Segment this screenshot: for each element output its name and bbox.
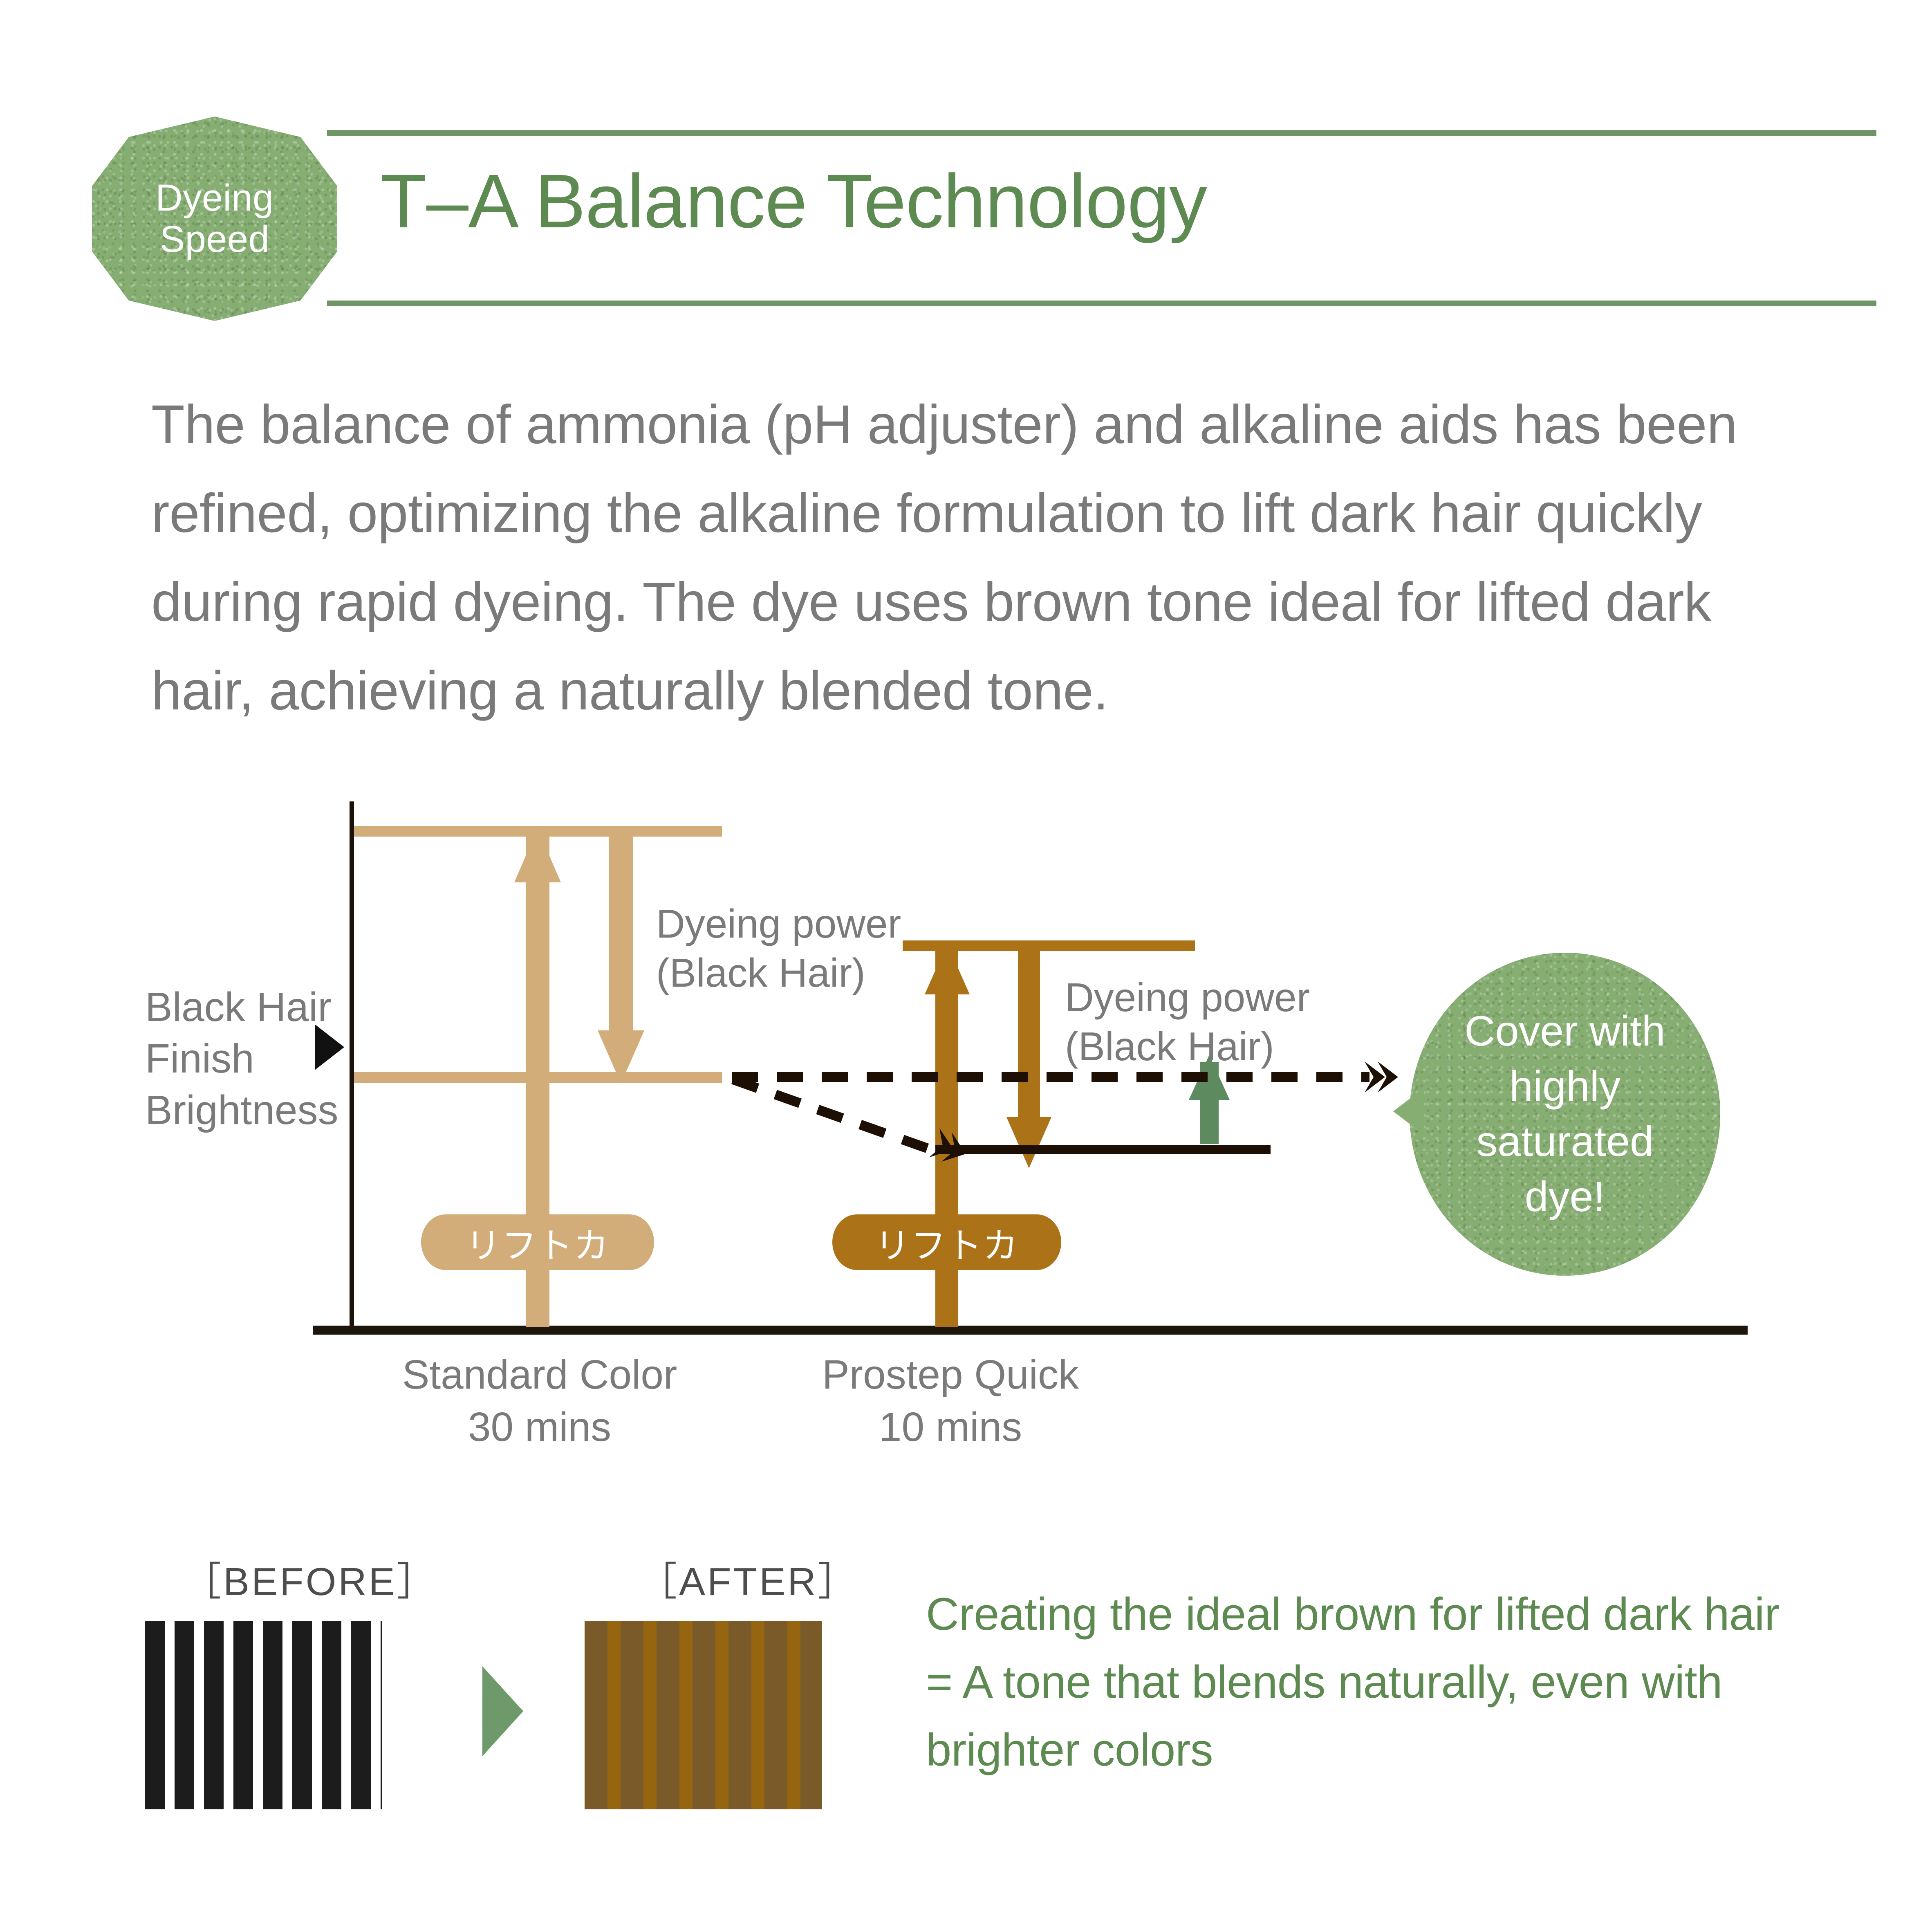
before-caption: ［BEFORE］ [182,1550,438,1607]
page-title: T–A Balance Technology [380,164,1207,240]
standard-lift-up-arrow-icon [514,828,561,922]
quick-dyeing-power-arrow-shaft [1018,946,1040,1126]
header-rule-top [327,130,1876,136]
standard-dyeing-power-arrow-shaft [609,830,633,1039]
before-after-arrow-icon [482,1666,523,1756]
before-after-note: Creating the ideal brown for lifted dark… [926,1580,1784,1784]
x-tick-standard-time: 30 mins [376,1401,703,1453]
y-axis-label-line3: Brightness [145,1084,350,1136]
badge-label-line2: Speed [160,219,270,260]
x-tick-prostep-quick: Prostep Quick 10 mins [787,1349,1114,1453]
standard-dyeing-power-down-arrow-icon [598,1030,644,1084]
standard-dyeing-power-label-line1: Dyeing power [656,900,942,949]
standard-dyeing-power-label: Dyeing power (Black Hair) [656,900,942,997]
quick-finish-brightness-line [935,1145,1271,1154]
after-caption: ［AFTER］ [638,1550,859,1607]
chart-y-axis [350,801,354,1327]
x-tick-standard-name: Standard Color [376,1349,703,1401]
x-tick-quick-time: 10 mins [787,1401,1114,1453]
quick-dyeing-power-down-arrow-icon [1006,1117,1051,1168]
y-axis-pointer-triangle-icon [315,1024,344,1070]
badge-label-group: Dyeing Speed [92,117,337,321]
after-hair-swatch [585,1621,822,1809]
header-rule-bottom [327,301,1876,306]
dashed-level-arrow [732,1072,1369,1082]
dyeing-speed-badge: Dyeing Speed [92,117,337,321]
x-tick-standard-color: Standard Color 30 mins [376,1349,703,1453]
quick-dyeing-power-label-line1: Dyeing power [1065,973,1343,1022]
quick-lift-up-arrow-icon [925,944,970,1032]
before-hair-swatch [145,1621,382,1809]
intro-paragraph: The balance of ammonia (pH adjuster) and… [151,380,1766,735]
bubble-text: Cover with highly saturated dye! [1410,953,1720,1276]
standard-lift-power-pill: リフトカ [421,1214,654,1270]
x-tick-quick-name: Prostep Quick [787,1349,1114,1401]
dashed-drop-arrow [731,1075,935,1155]
header-band: Dyeing Speed T–A Balance Technology [0,0,1932,335]
badge-label-line1: Dyeing [155,177,273,219]
coverage-callout-bubble: Cover with highly saturated dye! [1393,953,1720,1276]
dashed-drop-arrowhead-icon [925,1123,975,1174]
standard-dyeing-power-label-line2: (Black Hair) [656,949,942,998]
before-after-section: ［BEFORE］ ［AFTER］ Creating the ideal brow… [0,1542,1932,1860]
quick-lift-power-pill: リフトカ [832,1214,1061,1270]
